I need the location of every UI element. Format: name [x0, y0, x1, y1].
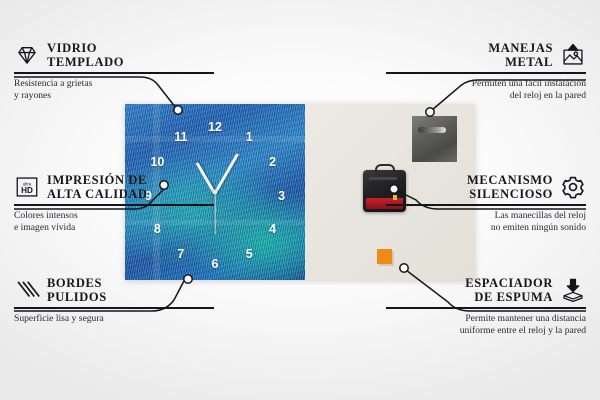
feature-divider [386, 72, 586, 74]
feature-mecanismo-silencioso[interactable]: MECANISMO SILENCIOSO Las manecillas del … [386, 173, 586, 234]
clock-number-10: 10 [150, 156, 164, 169]
feature-header: MANEJAS METAL [386, 41, 586, 69]
clock-number-2: 2 [269, 156, 276, 169]
foam-spacer-part [377, 249, 392, 264]
clock-number-7: 7 [177, 247, 184, 260]
infographic-canvas: 12 1 2 3 4 5 6 7 8 9 10 11 [0, 0, 600, 400]
feature-description: Colores intensos e imagen vívida [14, 210, 214, 235]
feature-divider [14, 204, 214, 206]
feature-title: BORDES PULIDOS [47, 276, 107, 304]
feature-header: ESPACIADOR DE ESPUMA [386, 276, 586, 304]
metal-hanger-part [412, 116, 457, 162]
feature-vidrio-templado[interactable]: VIDRIO TEMPLADO Resistencia a grietas y … [14, 41, 214, 102]
svg-text:HD: HD [21, 186, 33, 195]
feature-title: IMPRESIÓN DE ALTA CALIDAD [47, 173, 148, 201]
feature-bordes-pulidos[interactable]: BORDES PULIDOS Superficie lisa y segura [14, 276, 214, 325]
clock-number-4: 4 [269, 223, 276, 236]
feature-description: Permite mantener una distancia uniforme … [386, 313, 586, 338]
hanging-frame-icon [560, 42, 586, 68]
feature-title: MECANISMO SILENCIOSO [467, 173, 553, 201]
clock-number-11: 11 [174, 130, 187, 143]
feature-manejas-metal[interactable]: MANEJAS METAL Permiten una fácil instala… [386, 41, 586, 102]
feature-title: MANEJAS METAL [488, 41, 553, 69]
feature-description: Resistencia a grietas y rayones [14, 78, 214, 103]
clock-number-6: 6 [212, 258, 219, 271]
feature-description: Las manecillas del reloj no emiten ningú… [386, 210, 586, 235]
feature-divider [386, 307, 586, 309]
feature-description: Superficie lisa y segura [14, 313, 214, 325]
feature-title: VIDRIO TEMPLADO [47, 41, 124, 69]
gear-icon [560, 174, 586, 200]
ultra-hd-icon: ultra HD [14, 174, 40, 200]
feature-description: Permiten una fácil instalación del reloj… [386, 78, 586, 103]
feature-header: BORDES PULIDOS [14, 276, 214, 304]
feature-espaciador-espuma[interactable]: ESPACIADOR DE ESPUMA Permite mantener un… [386, 276, 586, 337]
feature-divider [386, 204, 586, 206]
hanger-slot [418, 127, 446, 133]
clock-second-hand [214, 193, 215, 235]
feature-header: VIDRIO TEMPLADO [14, 41, 214, 69]
clock-number-12: 12 [208, 121, 222, 134]
feature-impresion-alta-calidad[interactable]: ultra HD IMPRESIÓN DE ALTA CALIDAD Color… [14, 173, 214, 234]
feature-header: MECANISMO SILENCIOSO [386, 173, 586, 201]
feature-divider [14, 307, 214, 309]
clock-number-5: 5 [246, 247, 253, 260]
clock-number-1: 1 [246, 130, 253, 143]
foam-spacer-icon [560, 277, 586, 303]
feature-header: ultra HD IMPRESIÓN DE ALTA CALIDAD [14, 173, 214, 201]
clock-number-3: 3 [278, 189, 285, 202]
polished-edges-icon [14, 277, 40, 303]
feature-divider [14, 72, 214, 74]
feature-title: ESPACIADOR DE ESPUMA [465, 276, 553, 304]
diamond-icon [14, 42, 40, 68]
pattern-band [125, 136, 305, 142]
